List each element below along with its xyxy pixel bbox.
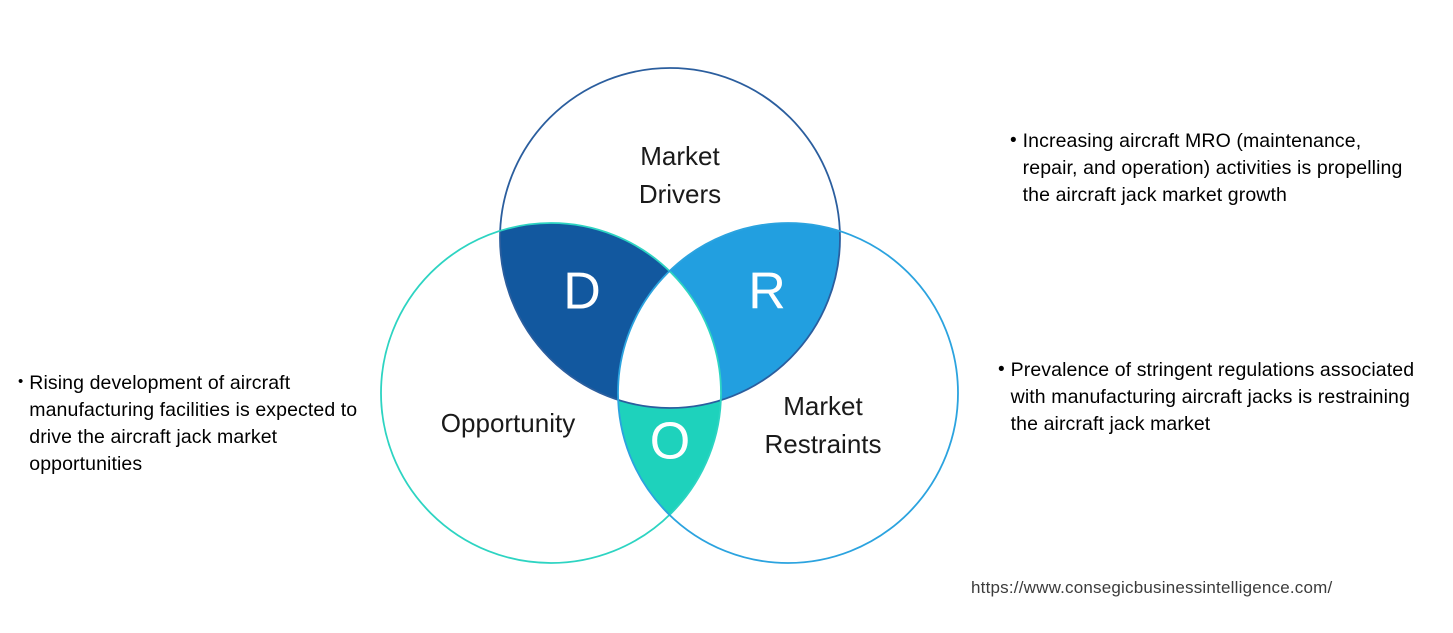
bullet-opportunity: • Rising development of aircraft manufac… <box>18 370 363 478</box>
label-market-restraints-line1: Market <box>783 391 863 421</box>
venn-diagram: Market Drivers Opportunity Market Restra… <box>360 40 980 585</box>
lens-letter-r: R <box>748 263 786 321</box>
bullet-marker-icon: • <box>998 357 1011 383</box>
bullet-restraints-text: Prevalence of stringent regulations asso… <box>1011 357 1418 438</box>
bullet-marker-icon: • <box>1010 128 1023 154</box>
source-url[interactable]: https://www.consegicbusinessintelligence… <box>971 578 1332 598</box>
venn-svg: Market Drivers Opportunity Market Restra… <box>360 40 980 585</box>
bullet-restraints: • Prevalence of stringent regulations as… <box>998 357 1418 438</box>
venn-infographic-page: Market Drivers Opportunity Market Restra… <box>0 0 1453 633</box>
bullet-marker-icon: • <box>18 370 29 392</box>
bullet-drivers-text: Increasing aircraft MRO (maintenance, re… <box>1023 128 1410 209</box>
label-market-drivers-line2: Drivers <box>639 179 721 209</box>
bullet-opportunity-text: Rising development of aircraft manufactu… <box>29 370 363 478</box>
label-market-restraints-line2: Restraints <box>764 429 881 459</box>
label-market-drivers-line1: Market <box>640 141 720 171</box>
label-opportunity: Opportunity <box>441 408 575 438</box>
lens-letter-o: O <box>650 413 690 471</box>
lens-letter-d: D <box>563 263 601 321</box>
bullet-drivers: • Increasing aircraft MRO (maintenance, … <box>1010 128 1410 209</box>
